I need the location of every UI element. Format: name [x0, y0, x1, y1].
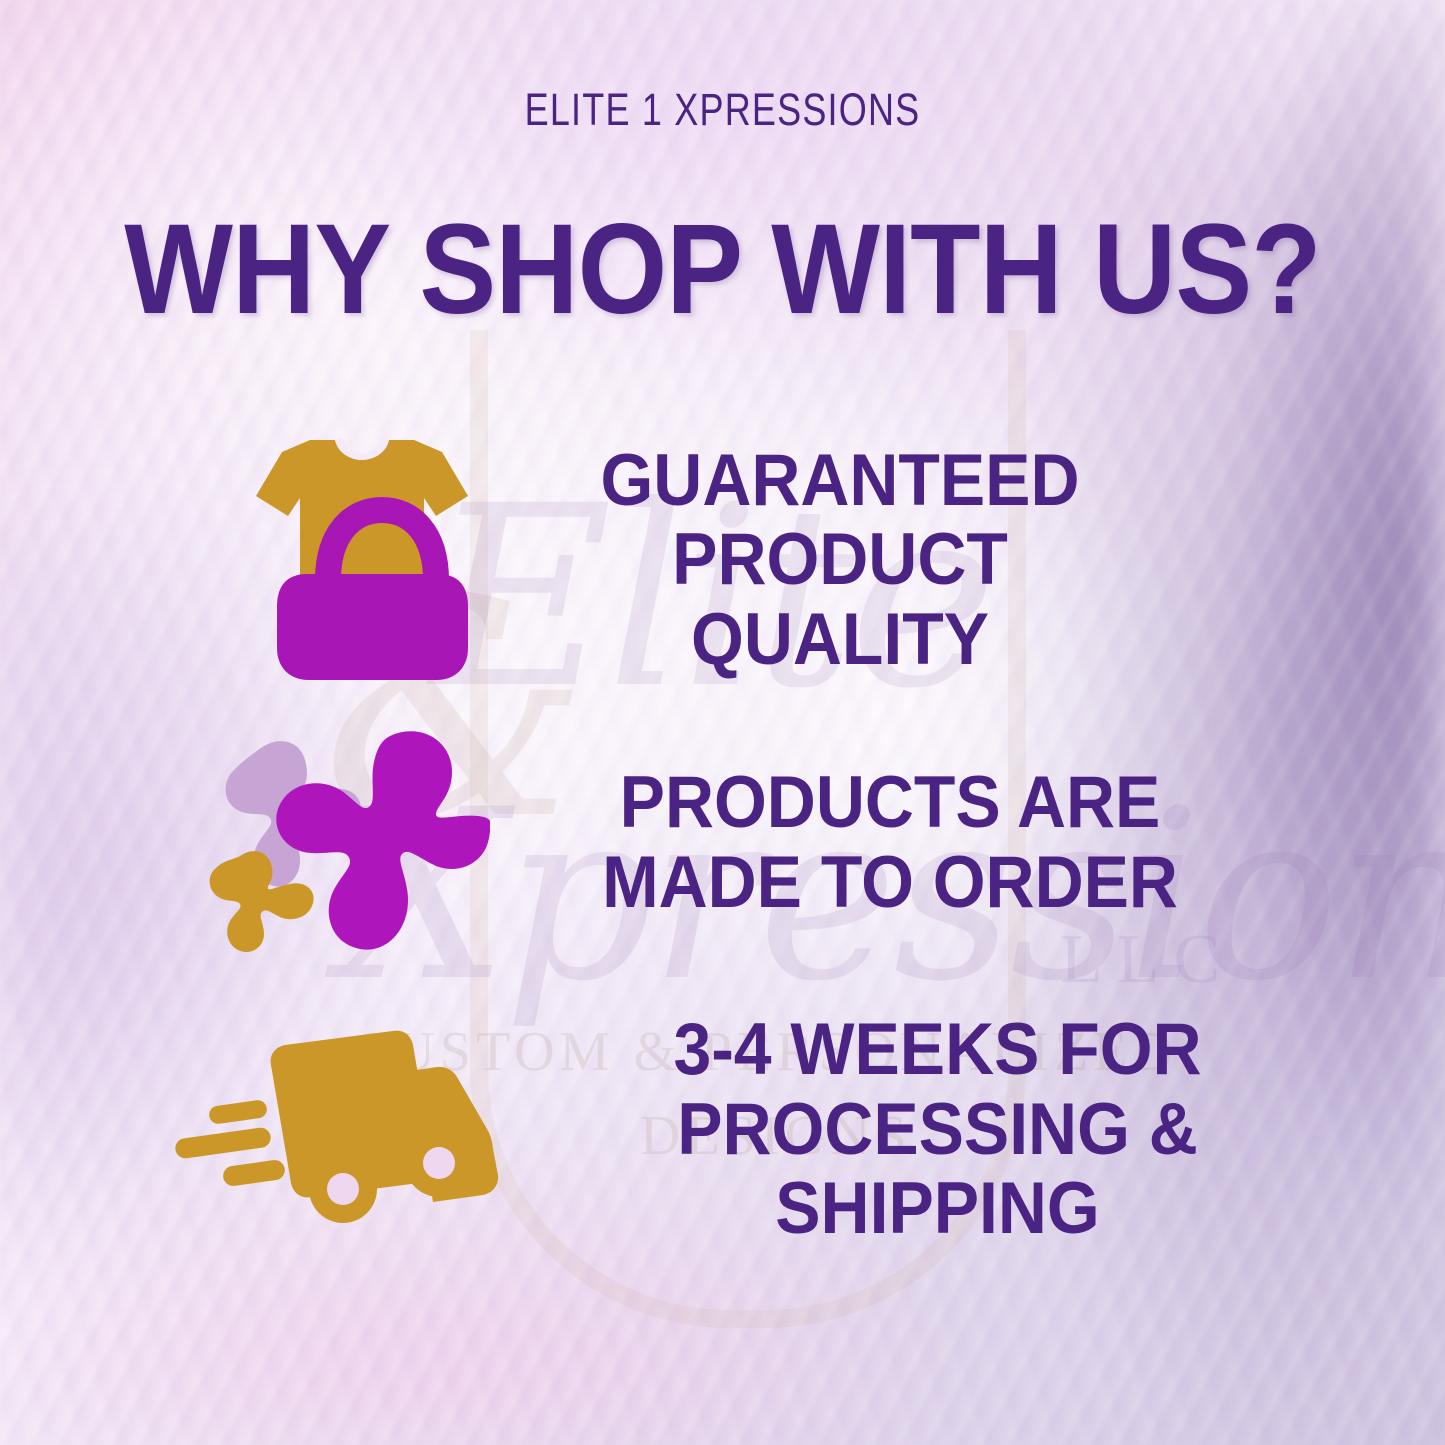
feature-label-made-to-order: PRODUCTS ARE MADE TO ORDER	[592, 763, 1187, 922]
splat-flowers-icon	[200, 728, 490, 958]
promo-graphic-canvas: & Elite Xpressions LLC CUSTOM & PERSONAL…	[0, 0, 1445, 1445]
brand-name: ELITE 1 XPRESSIONS	[145, 84, 1301, 136]
feature-row-made-to-order: PRODUCTS ARE MADE TO ORDER	[200, 728, 1210, 958]
feature-label-quality: GUARANTEED PRODUCT QUALITY	[533, 441, 1147, 680]
tshirt-and-handbag-icon	[200, 430, 490, 690]
page-title: WHY SHOP WITH US?	[72, 206, 1373, 334]
feature-row-shipping: 3-4 WEEKS FOR PROCESSING & SHIPPING	[165, 1010, 1350, 1249]
delivery-truck-icon	[165, 1029, 505, 1229]
feature-row-quality: GUARANTEED PRODUCT QUALITY	[200, 430, 1270, 690]
feature-label-shipping: 3-4 WEEKS FOR PROCESSING & SHIPPING	[554, 1010, 1321, 1249]
